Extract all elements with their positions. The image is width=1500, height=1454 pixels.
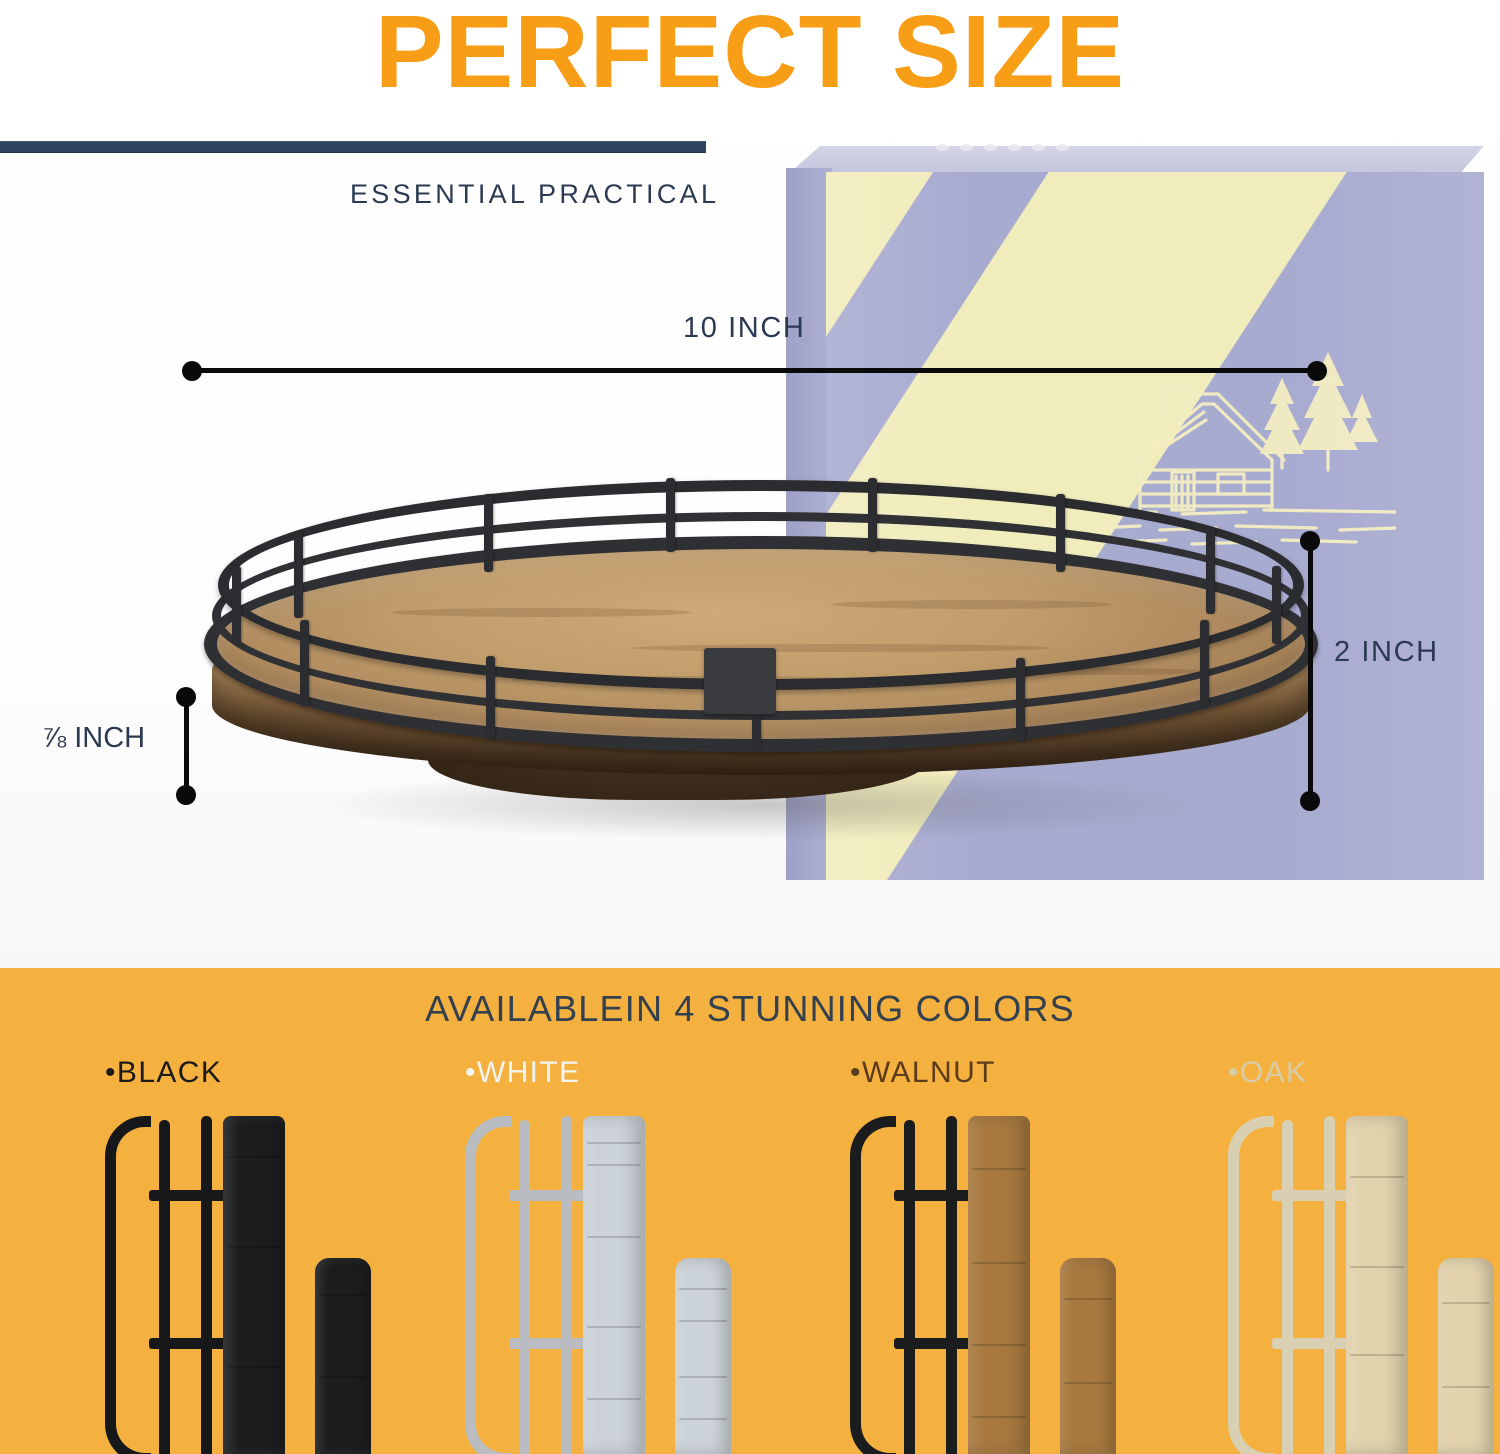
turntable-mounting-bracket [704,648,776,714]
color-swatch-label: •WHITE [465,1056,840,1090]
lazy-susan-turntable-product [196,470,1326,840]
page-title: PERFECT SIZE [0,0,1500,109]
swatch-disc-edge-secondary [315,1258,371,1454]
rail-post [868,478,877,552]
swatch-disc-edge [968,1116,1030,1454]
height-dimension-line [1308,541,1313,801]
rail-post [294,532,303,618]
width-dimension-end-dot [1307,361,1327,381]
perfect-size-section: PERFECT SIZE ESSENTIAL PRACTICAL [0,0,1500,968]
rail-post [486,656,495,740]
rail-post [232,566,241,644]
colors-section-heading: AVAILABLEIN 4 STUNNING COLORS [0,988,1500,1030]
color-swatch-product-art [465,1106,840,1454]
rail-post [300,620,309,706]
color-swatch-black[interactable]: •BLACK [105,1056,480,1454]
box-top-dot-row [936,140,1196,154]
color-swatch-product-art [850,1106,1225,1454]
color-swatch-label: •OAK [1228,1056,1500,1090]
width-dimension-line [192,368,1317,373]
swatch-disc-edge [223,1116,285,1454]
rail-post [1272,566,1281,644]
rail-post [1206,528,1215,614]
thickness-dimension-label: ⅞ INCH [42,722,145,755]
color-swatch-walnut[interactable]: •WALNUT [850,1056,1225,1454]
title-divider-rule [0,141,706,153]
height-dimension-label: 2 INCH [1334,636,1439,669]
color-swatch-label: •BLACK [105,1056,480,1090]
color-swatch-product-art [105,1106,480,1454]
swatch-disc-edge-secondary [1060,1258,1116,1454]
swatch-disc-edge [583,1116,645,1454]
rail-post [1056,494,1065,572]
thickness-dimension-bottom-dot [176,785,196,805]
swatch-disc-edge-secondary [675,1258,731,1454]
page-subtitle: ESSENTIAL PRACTICAL [350,179,710,210]
color-swatch-label: •WALNUT [850,1056,1225,1090]
color-swatch-oak[interactable]: •OAK [1228,1056,1500,1454]
rail-post [1200,620,1209,706]
swatch-disc-edge [1346,1116,1408,1454]
width-dimension-label: 10 INCH [683,312,805,345]
color-swatch-white[interactable]: •WHITE [465,1056,840,1454]
rail-post [1016,658,1025,742]
swatch-disc-edge-secondary [1438,1258,1494,1454]
color-swatch-product-art [1228,1106,1500,1454]
height-dimension-bottom-dot [1300,791,1320,811]
thickness-dimension-line [184,697,189,795]
rail-post [484,494,493,572]
available-colors-section: AVAILABLEIN 4 STUNNING COLORS •BLACK [0,968,1500,1454]
rail-post [666,478,675,552]
